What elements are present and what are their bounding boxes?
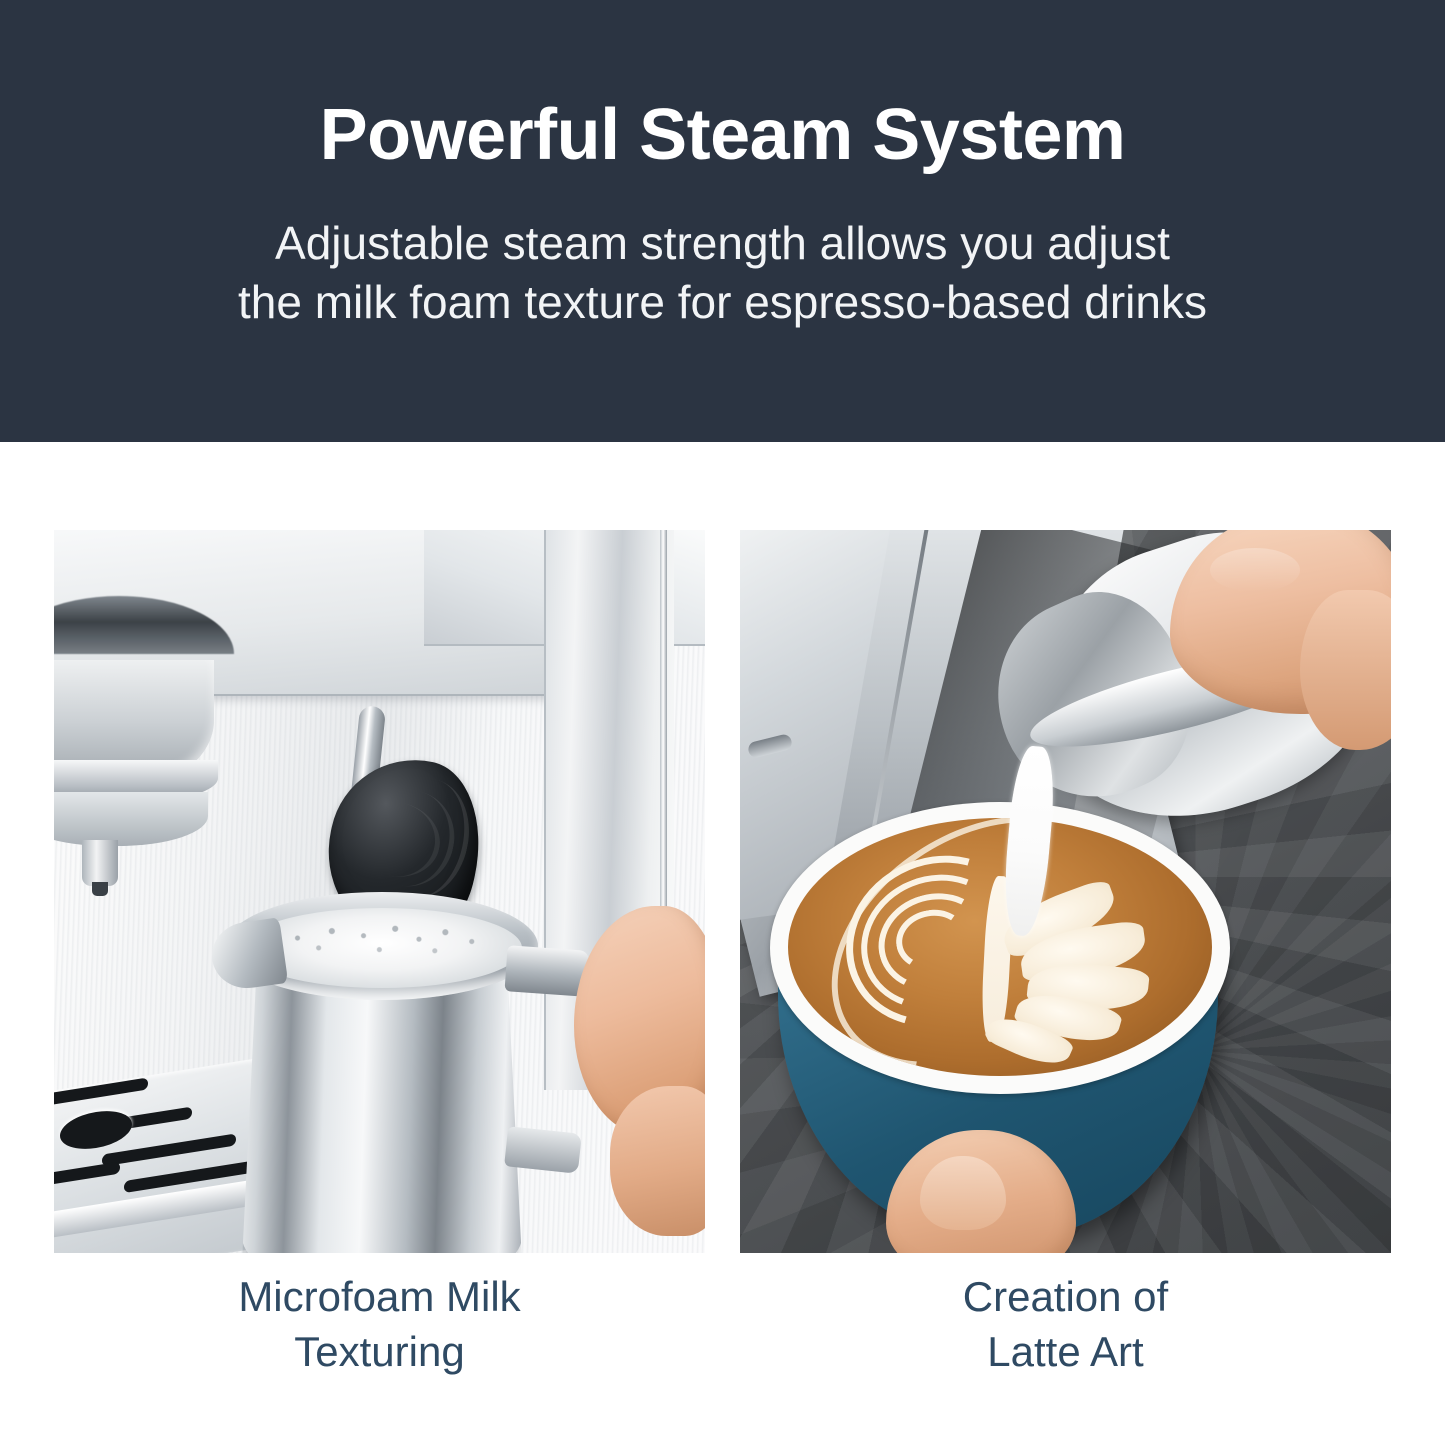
feature-panel-latte-art xyxy=(740,530,1391,1253)
caption-latte-art-line-2: Latte Art xyxy=(740,1325,1391,1380)
caption-microfoam: Microfoam Milk Texturing xyxy=(54,1270,705,1379)
microfoam-bubbles xyxy=(250,916,514,974)
promo-page: Powerful Steam System Adjustable steam s… xyxy=(0,0,1445,1445)
caption-microfoam-line-1: Microfoam Milk xyxy=(238,1273,520,1320)
page-subtitle-line-1: Adjustable steam strength allows you adj… xyxy=(275,217,1170,269)
caption-latte-art: Creation of Latte Art xyxy=(740,1270,1391,1379)
page-subtitle: Adjustable steam strength allows you adj… xyxy=(238,214,1207,334)
portafilter-spout xyxy=(82,840,118,886)
photo-microfoam-milk-texturing xyxy=(54,530,705,1253)
milk-pitcher-handle-bottom xyxy=(504,1126,582,1174)
portafilter-spout-tip xyxy=(92,882,108,896)
feature-panels: Microfoam Milk Texturing Creation of Lat… xyxy=(0,442,1445,1445)
latte-art-rosetta xyxy=(788,818,1212,1076)
feature-panel-microfoam xyxy=(54,530,705,1253)
hand-fingers xyxy=(610,1086,705,1236)
coffee-crema-surface xyxy=(788,818,1212,1076)
page-title: Powerful Steam System xyxy=(320,98,1126,174)
photo-creation-of-latte-art xyxy=(740,530,1391,1253)
caption-latte-art-line-1: Creation of xyxy=(963,1273,1168,1320)
hand-knuckle-highlight xyxy=(1210,548,1300,592)
header-banner: Powerful Steam System Adjustable steam s… xyxy=(0,0,1445,442)
caption-microfoam-line-2: Texturing xyxy=(54,1325,705,1380)
page-subtitle-line-2: the milk foam texture for espresso-based… xyxy=(238,273,1207,333)
